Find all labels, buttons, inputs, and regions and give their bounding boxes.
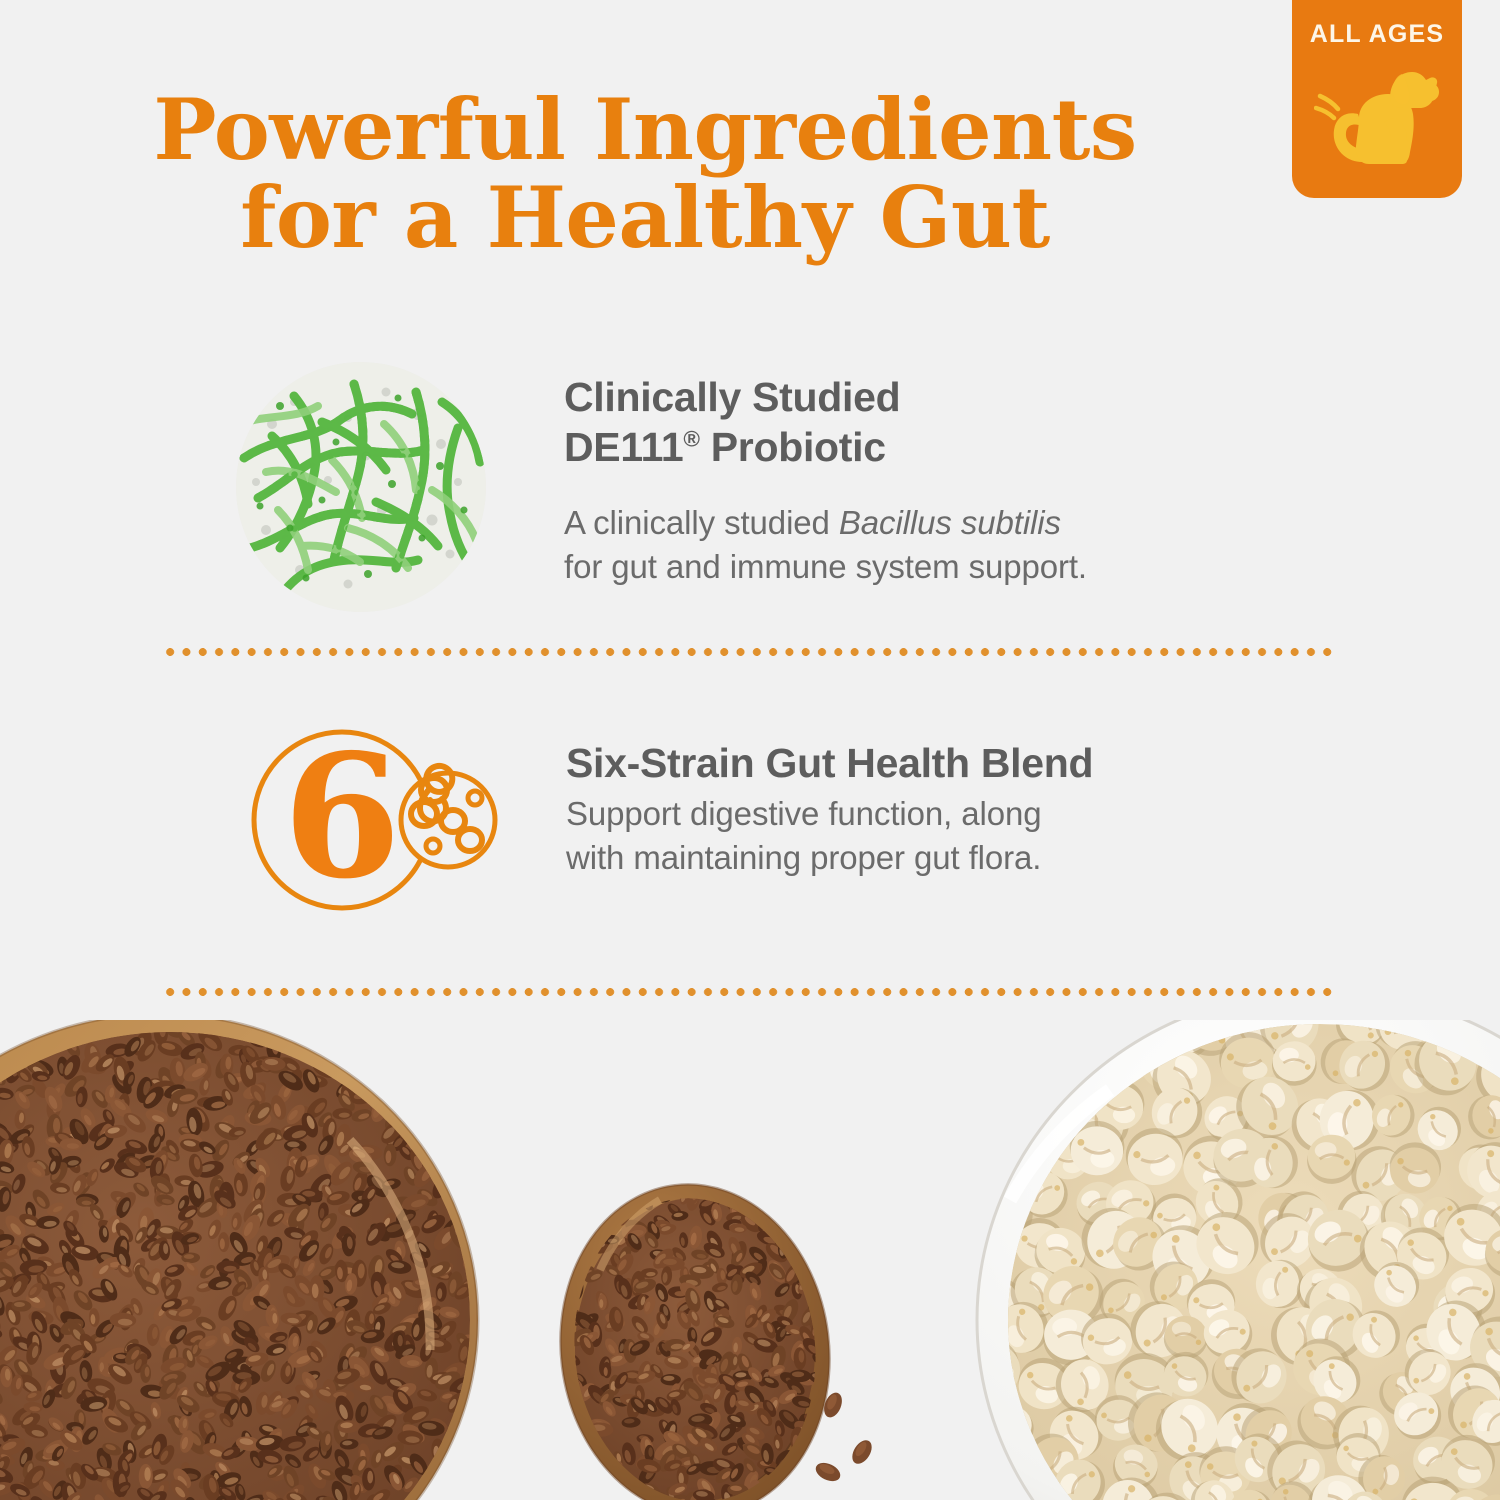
- feature-heading-line-2: DE111® Probiotic: [564, 422, 1316, 472]
- all-ages-label: ALL AGES: [1292, 20, 1462, 49]
- feature-body-line-1: A clinically studied Bacillus subtilis: [564, 501, 1316, 545]
- sitting-dog-silhouette-icon: [1314, 52, 1440, 181]
- infographic-canvas: ALL AGES: [0, 0, 1500, 1500]
- feature-heading-line-1: Six-Strain Gut Health Blend: [566, 738, 1318, 788]
- de111-text: DE111: [564, 424, 683, 470]
- feature-body-line-2: for gut and immune system support.: [564, 545, 1316, 589]
- six-strain-blend-icon: 6: [248, 724, 514, 916]
- feature-text-block: Six-Strain Gut Health Blend Support dige…: [566, 724, 1318, 880]
- feature-heading: Clinically Studied DE111® Probiotic: [564, 372, 1316, 472]
- ingredient-photo-strip: [0, 1020, 1500, 1500]
- feature-body-line-1: Support digestive function, along: [566, 792, 1318, 836]
- svg-text:6: 6: [283, 724, 401, 916]
- title-line-2: for a Healthy Gut: [0, 174, 1290, 262]
- feature-heading: Six-Strain Gut Health Blend: [566, 738, 1318, 788]
- bacillus-subtilis-italic: Bacillus subtilis: [839, 504, 1061, 541]
- body-text-pre: A clinically studied: [564, 504, 839, 541]
- registered-mark: ®: [683, 426, 699, 451]
- dotted-divider-top: [162, 648, 1336, 656]
- feature-body: Support digestive function, along with m…: [566, 792, 1318, 880]
- dotted-divider-bottom: [162, 988, 1336, 996]
- feature-body-line-2: with maintaining proper gut flora.: [566, 836, 1318, 880]
- microscope-bacteria-circle-icon: [236, 362, 486, 612]
- feature-six-strain-blend: 6: [248, 724, 1318, 916]
- feature-heading-line-1: Clinically Studied: [564, 372, 1316, 422]
- feature-text-block: Clinically Studied DE111® Probiotic A cl…: [564, 362, 1316, 589]
- all-ages-badge: ALL AGES: [1292, 0, 1462, 198]
- probiotic-text: Probiotic: [700, 424, 886, 470]
- feature-body: A clinically studied Bacillus subtilis f…: [564, 501, 1316, 589]
- title-line-1: Powerful Ingredients: [0, 86, 1290, 174]
- feature-clinically-studied-probiotic: Clinically Studied DE111® Probiotic A cl…: [236, 362, 1316, 612]
- page-title: Powerful Ingredients for a Healthy Gut: [0, 86, 1290, 262]
